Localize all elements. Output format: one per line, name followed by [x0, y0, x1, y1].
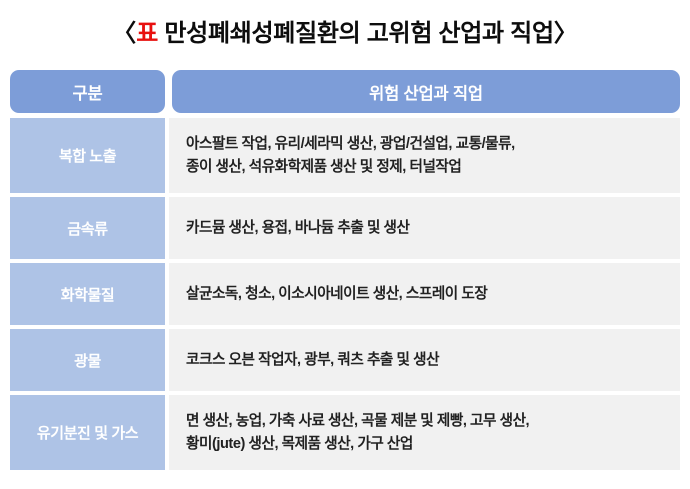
table-row: 광물 코크스 오븐 작업자, 광부, 쿼츠 추출 및 생산	[10, 329, 680, 391]
row-label-complex-exposure: 복합 노출	[10, 118, 165, 193]
row-label-chemicals: 화학물질	[10, 263, 165, 325]
row-content-line: 면 생산, 농업, 가축 사료 생산, 곡물 제분 및 제빵, 고무 생산,	[186, 410, 529, 432]
table-row: 금속류 카드뮴 생산, 용접, 바나듐 추출 및 생산	[10, 197, 680, 259]
page-root: 〈표 만성폐쇄성폐질환의 고위험 산업과 직업〉 구분 위험 산업과 직업 복합…	[0, 0, 690, 489]
table-header-content-column: 위험 산업과 직업	[172, 70, 680, 113]
row-content-line: 살균소독, 청소, 이소시아네이트 생산, 스프레이 도장	[186, 283, 487, 305]
row-content-line: 아스팔트 작업, 유리/세라믹 생산, 광업/건설업, 교통/물류,	[186, 133, 515, 155]
row-content-complex-exposure: 아스팔트 작업, 유리/세라믹 생산, 광업/건설업, 교통/물류, 종이 생산…	[169, 118, 680, 193]
table-row: 복합 노출 아스팔트 작업, 유리/세라믹 생산, 광업/건설업, 교통/물류,…	[10, 118, 680, 193]
table-row: 유기분진 및 가스 면 생산, 농업, 가축 사료 생산, 곡물 제분 및 제빵…	[10, 395, 680, 470]
row-content-minerals: 코크스 오븐 작업자, 광부, 쿼츠 추출 및 생산	[169, 329, 680, 391]
row-content-line: 종이 생산, 석유화학제품 생산 및 정제, 터널작업	[186, 156, 515, 178]
row-content-organic-dust-gas: 면 생산, 농업, 가축 사료 생산, 곡물 제분 및 제빵, 고무 생산, 황…	[169, 395, 680, 470]
row-content-line: 카드뮴 생산, 용접, 바나듐 추출 및 생산	[186, 217, 409, 239]
table-header-label-column: 구분	[10, 70, 165, 113]
row-content-line: 코크스 오븐 작업자, 광부, 쿼츠 추출 및 생산	[186, 349, 439, 371]
title-main-text: 만성폐쇄성폐질환의 고위험 산업과 직업	[158, 20, 554, 47]
risk-industry-table: 구분 위험 산업과 직업 복합 노출 아스팔트 작업, 유리/세라믹 생산, 광…	[10, 70, 680, 474]
table-row: 화학물질 살균소독, 청소, 이소시아네이트 생산, 스프레이 도장	[10, 263, 680, 325]
row-content-chemicals: 살균소독, 청소, 이소시아네이트 생산, 스프레이 도장	[169, 263, 680, 325]
page-title: 〈표 만성폐쇄성폐질환의 고위험 산업과 직업〉	[0, 13, 690, 48]
title-close-bracket: 〉	[554, 20, 578, 47]
row-label-minerals: 광물	[10, 329, 165, 391]
title-open-bracket: 〈	[112, 20, 136, 47]
title-mark: 표	[136, 20, 158, 47]
row-label-organic-dust-gas: 유기분진 및 가스	[10, 395, 165, 470]
row-content-line: 황미(jute) 생산, 목제품 생산, 가구 산업	[186, 433, 529, 455]
table-header-row: 구분 위험 산업과 직업	[10, 70, 680, 113]
row-label-metals: 금속류	[10, 197, 165, 259]
row-content-metals: 카드뮴 생산, 용접, 바나듐 추출 및 생산	[169, 197, 680, 259]
